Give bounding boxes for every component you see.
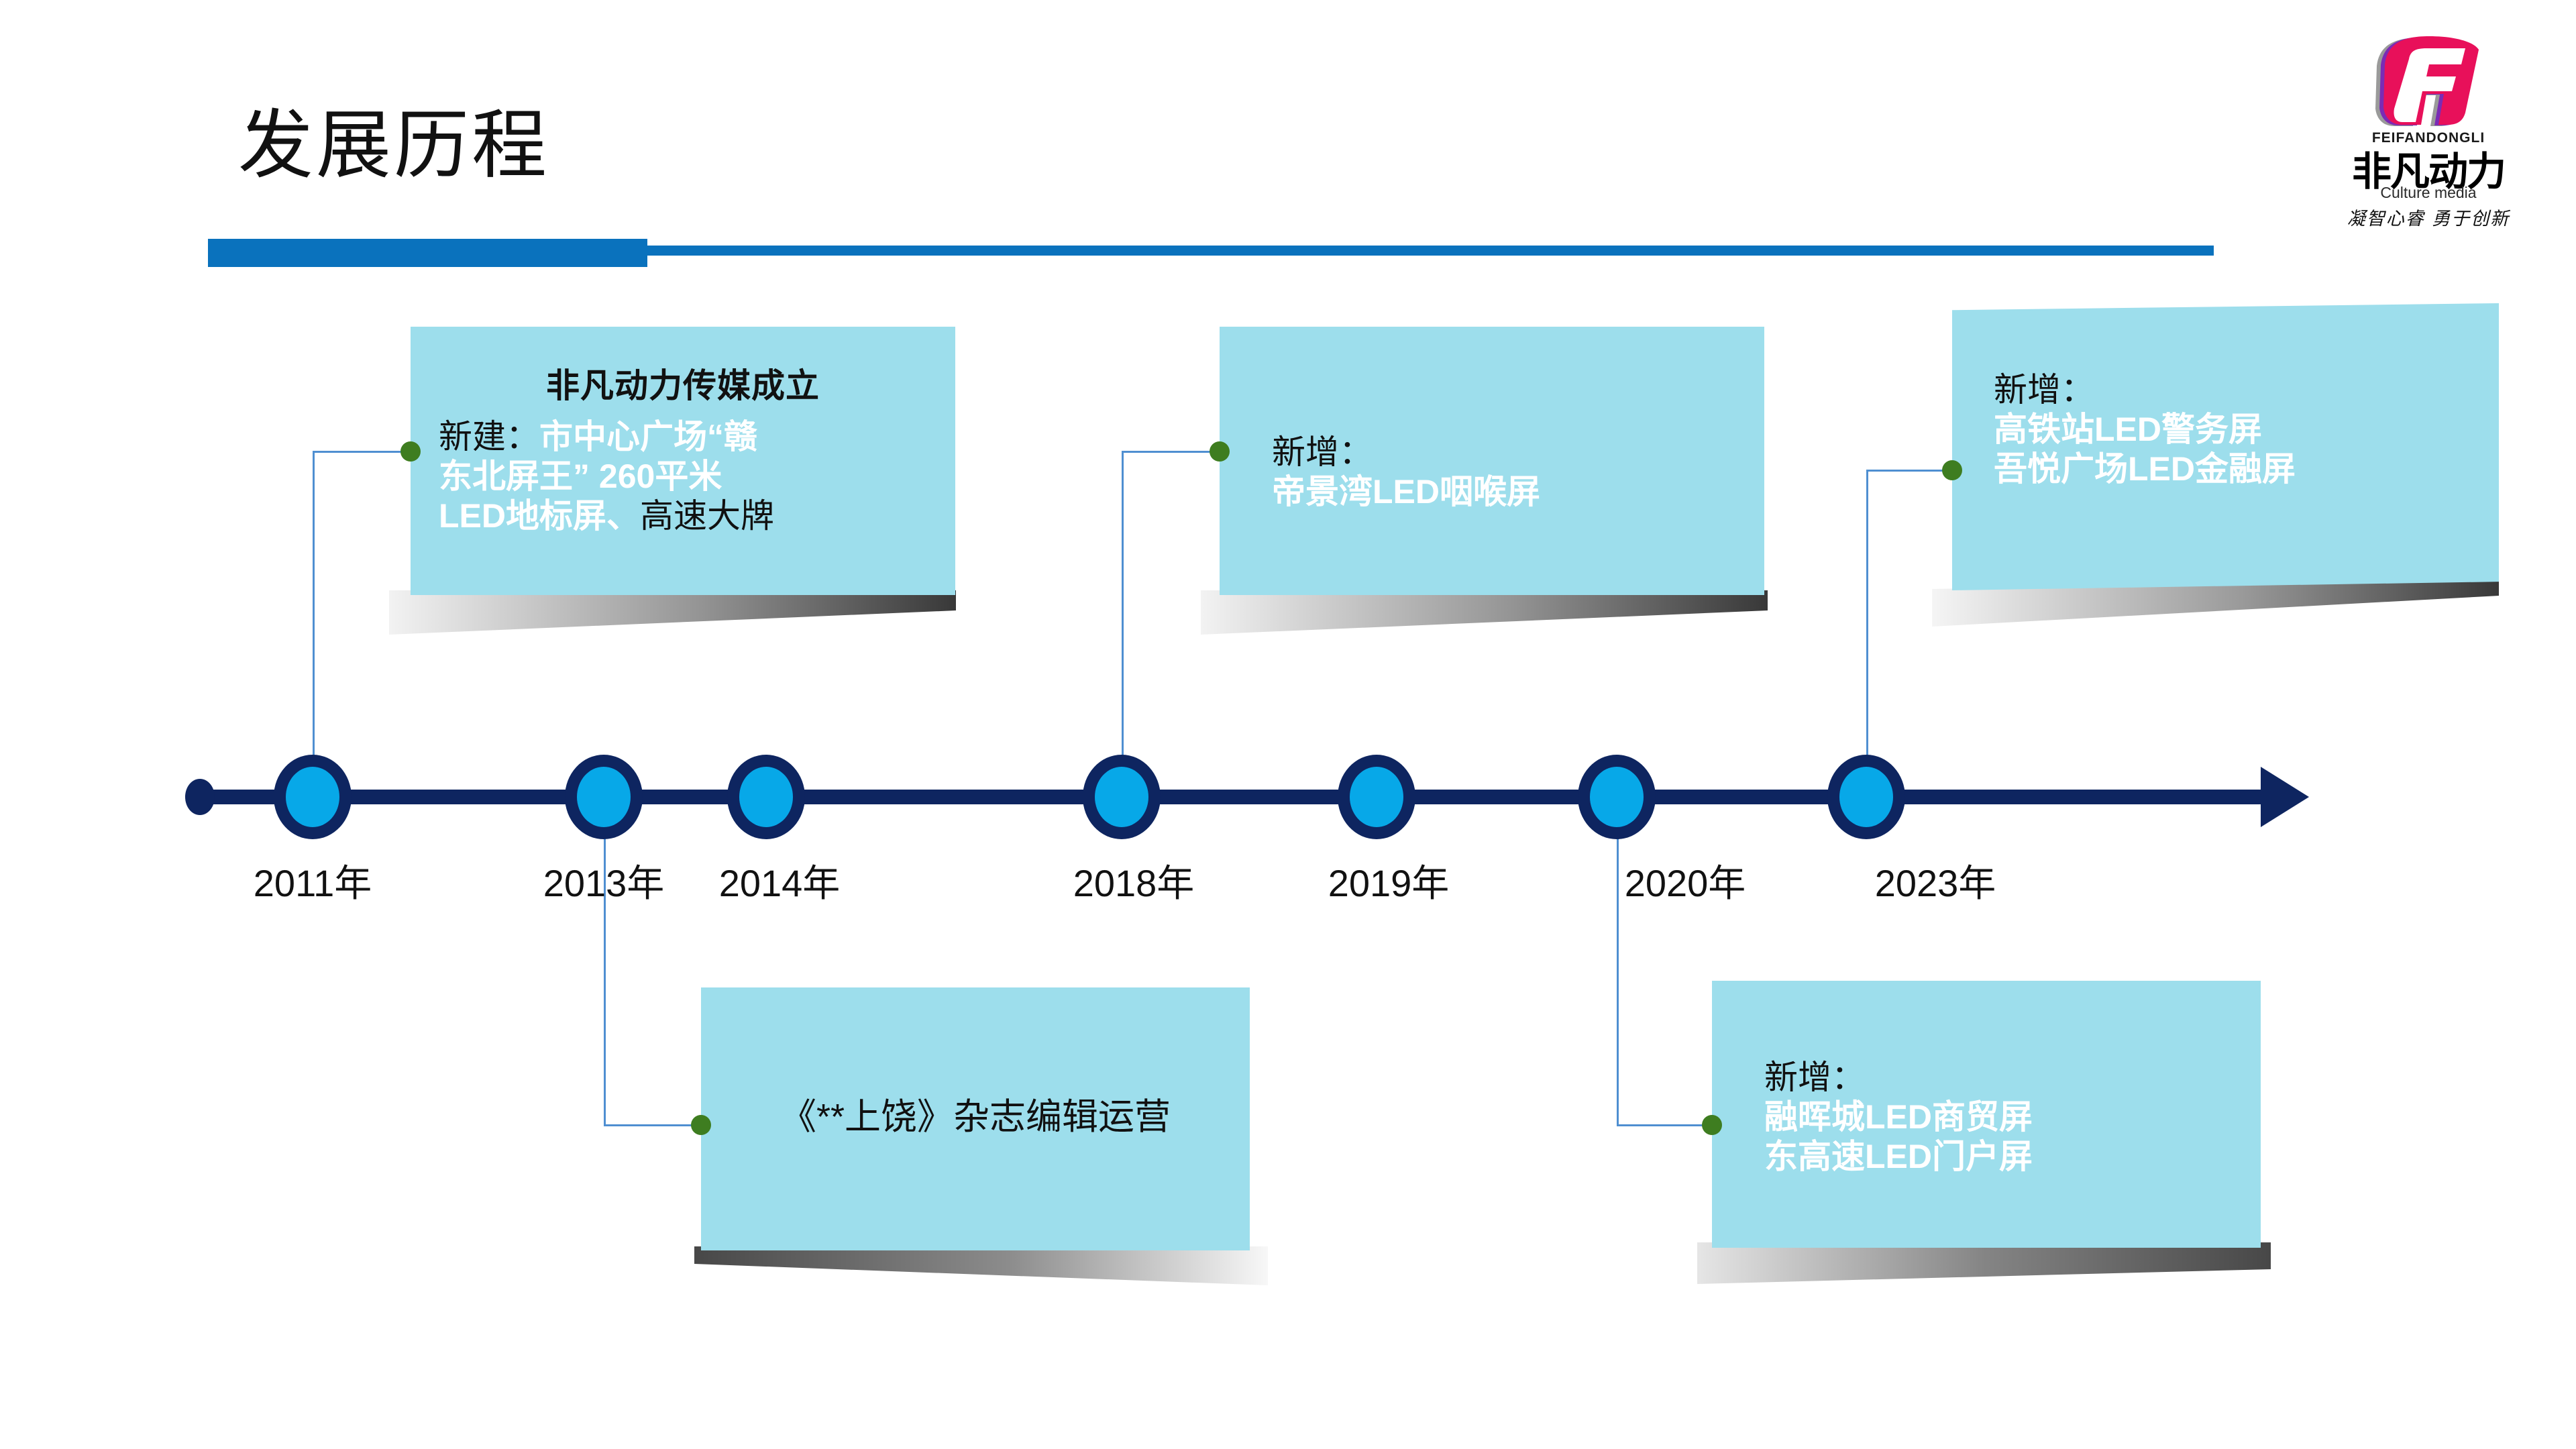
card-title-2011: 非凡动力传媒成立 [411,359,955,407]
timeline-year-2018: 2018年 [1073,853,1195,908]
timeline-node-2020[interactable] [1578,755,1656,839]
milestone-card-2011: 非凡动力传媒成立 新建：市中心广场“赣 东北屏王” 260平米 LED地标屏、高… [411,327,955,595]
title-underline-block [208,239,647,267]
connector-vertical-2011 [313,451,315,790]
card-shadow-2020 [1697,1242,2271,1296]
connector-dot-2020 [1702,1115,1722,1135]
card-lede-2020: 新增： [1764,1059,1865,1096]
card-hl1-2023: 高铁站LED警务屏 [1994,411,2262,448]
f-mark-icon [2365,32,2492,126]
connector-dot-2011 [400,441,421,462]
card-shadow-2011 [389,590,956,639]
connector-dot-2018 [1210,441,1230,462]
timeline-year-2011: 2011年 [254,853,372,908]
connector-vertical-2020 [1617,804,1619,1126]
connector-horizontal-2013 [604,1124,701,1126]
timeline-year-2014: 2014年 [719,853,841,908]
card-shadow-2018 [1201,590,1768,639]
title-underline-rule [647,246,2214,256]
timeline-arrow-icon [2261,767,2309,827]
connector-vertical-2013 [604,804,606,1126]
card-blk3-2011: 高速大牌 [640,497,774,535]
card-hl1-2011: 市中心广场“赣 [539,418,757,455]
card-body-2011: 新建：市中心广场“赣 东北屏王” 260平米 LED地标屏、高速大牌 [439,417,935,536]
milestone-card-2023: 新增： 高铁站LED警务屏 吾悦广场LED金融屏 [1952,303,2499,590]
connector-horizontal-2018 [1122,451,1220,453]
timeline-node-2013[interactable] [565,755,643,839]
connector-horizontal-2023 [1866,470,1952,472]
connector-vertical-2018 [1122,451,1124,790]
timeline-node-2023[interactable] [1827,755,1905,839]
company-logo: FEIFANDONGLI 非凡动力 Culture media 凝智心睿 勇于创… [2328,20,2529,221]
card-lede-2018: 新增： [1272,433,1373,471]
card-body-2018: 新增： 帝景湾LED咽喉屏 [1272,433,1741,512]
card-body-2023: 新增： 高铁站LED警务屏 吾悦广场LED金融屏 [1994,370,2504,489]
card-hl3-2011: LED地标屏、 [439,497,640,535]
milestone-card-2013: 《**上饶》杂志编辑运营 [701,987,1250,1250]
connector-dot-2023 [1942,460,1962,480]
timeline-start-dot [185,779,215,815]
card-body-2020: 新增： 融晖城LED商贸屏 东高速LED门户屏 [1764,1058,2234,1177]
timeline-node-2019[interactable] [1338,755,1415,839]
card-hl2-2011: 东北屏王” 260平米 [439,458,722,495]
slide-root: 发展历程 FEIFANDONGLI 非凡动力 Culture media 凝智心… [0,0,2576,1449]
milestone-card-2018: 新增： 帝景湾LED咽喉屏 [1220,327,1764,595]
card-hl1-2018: 帝景湾LED咽喉屏 [1272,473,1540,511]
connector-dot-2013 [691,1115,711,1135]
timeline-year-2019: 2019年 [1328,853,1450,908]
timeline-node-2018[interactable] [1083,755,1161,839]
timeline-node-2011[interactable] [274,755,352,839]
connector-vertical-2023 [1866,470,1868,790]
connector-horizontal-2011 [313,451,411,453]
connector-horizontal-2020 [1617,1124,1712,1126]
card-shadow-2013 [694,1246,1268,1295]
card-hl2-2023: 吾悦广场LED金融屏 [1994,450,2296,488]
milestone-card-2020: 新增： 融晖城LED商贸屏 东高速LED门户屏 [1712,981,2261,1248]
card-lede-2023: 新增： [1994,371,2094,409]
card-hl2-2020: 东高速LED门户屏 [1764,1138,2033,1175]
card-body-2013: 《**上饶》杂志编辑运营 [701,1096,1250,1139]
card-hl1-2020: 融晖城LED商贸屏 [1764,1098,2033,1136]
timeline-year-2020: 2020年 [1625,853,1746,908]
timeline-node-2014[interactable] [727,755,805,839]
timeline-year-2013: 2013年 [543,853,665,908]
page-title: 发展历程 [238,104,549,186]
logo-subtitle: Culture media [2328,184,2529,202]
card-lede-2011: 新建： [439,418,539,455]
logo-tagline: 凝智心睿 勇于创新 [2328,204,2529,230]
timeline-year-2023: 2023年 [1875,853,1996,908]
timeline-axis [191,790,2277,804]
